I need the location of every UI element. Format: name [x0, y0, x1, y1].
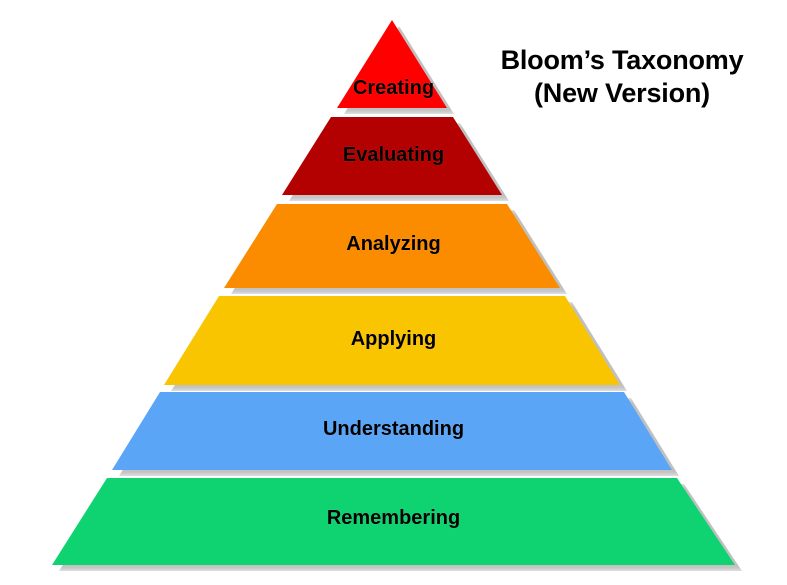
pyramid-level-label: Creating	[0, 77, 787, 100]
pyramid-level-applying[interactable]: Applying	[0, 296, 787, 385]
pyramid-level-label: Evaluating	[0, 144, 787, 167]
pyramid-graphic: Creating Evaluating Analyzing Applying U…	[0, 0, 787, 585]
pyramid-level-evaluating[interactable]: Evaluating	[0, 117, 787, 195]
pyramid-level-label: Applying	[0, 328, 787, 351]
pyramid-level-label: Understanding	[0, 418, 787, 441]
pyramid-level-label: Analyzing	[0, 233, 787, 256]
pyramid-level-understanding[interactable]: Understanding	[0, 392, 787, 470]
pyramid-level-analyzing[interactable]: Analyzing	[0, 204, 787, 288]
pyramid-level-remembering[interactable]: Remembering	[0, 478, 787, 565]
pyramid-level-label: Remembering	[0, 507, 787, 530]
pyramid-level-creating[interactable]: Creating	[0, 20, 787, 108]
blooms-taxonomy-diagram: Bloom’s Taxonomy (New Version) Creating …	[0, 0, 787, 585]
